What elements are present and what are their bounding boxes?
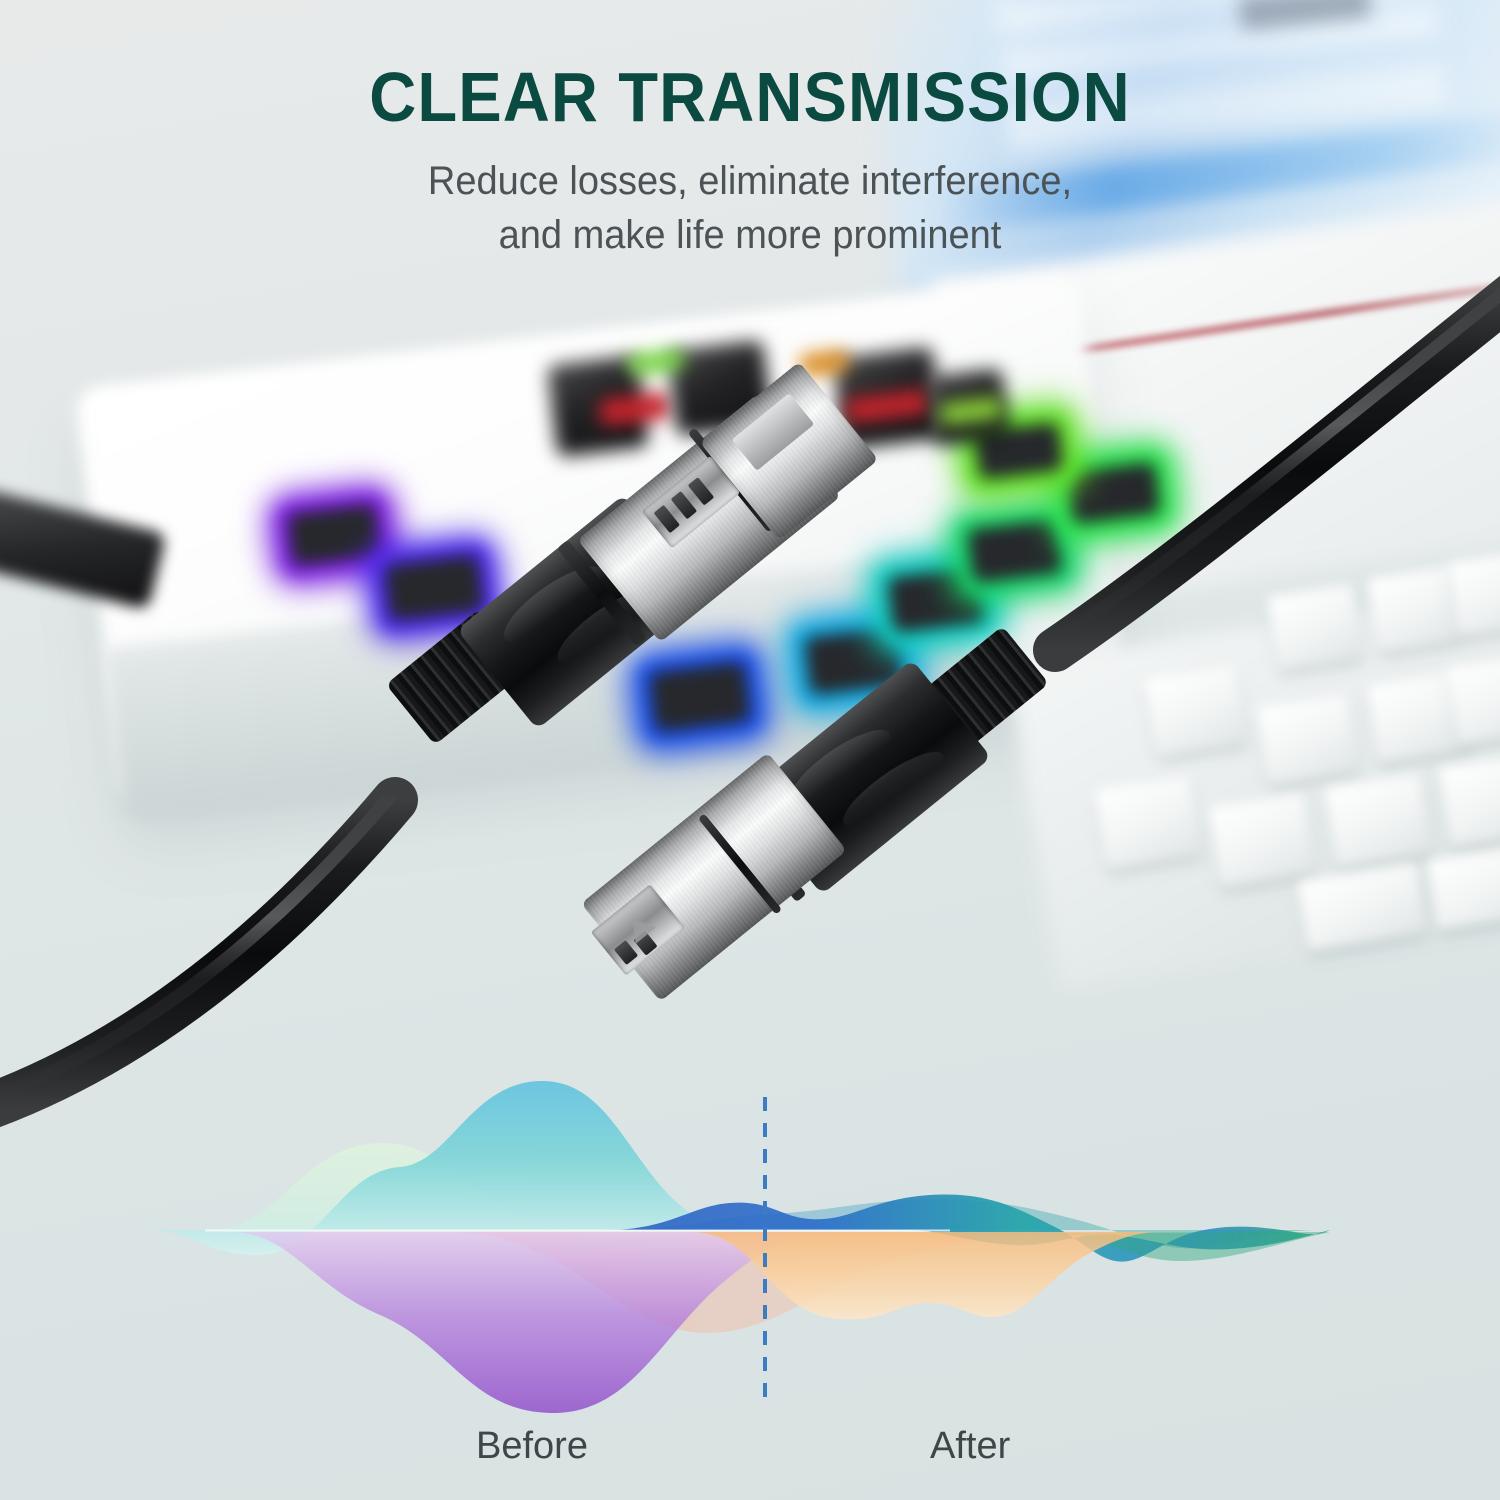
xlr-male-connector <box>560 620 1080 1050</box>
waveform-svg <box>150 1075 1330 1420</box>
label-after: After <box>930 1425 1010 1468</box>
product-marketing-image: CLEAR TRANSMISSION Reduce losses, elimin… <box>0 0 1500 1500</box>
subtitle: Reduce losses, eliminate interference, a… <box>38 155 1463 261</box>
waveform-graphic <box>150 1075 1330 1420</box>
label-before: Before <box>476 1425 588 1468</box>
subtitle-line-1: Reduce losses, eliminate interference, <box>38 155 1463 208</box>
subtitle-line-2: and make life more prominent <box>38 209 1463 262</box>
page-title: CLEAR TRANSMISSION <box>53 62 1448 133</box>
waveform-labels: Before After <box>0 1425 1500 1485</box>
headline-block: CLEAR TRANSMISSION Reduce losses, elimin… <box>0 62 1500 262</box>
